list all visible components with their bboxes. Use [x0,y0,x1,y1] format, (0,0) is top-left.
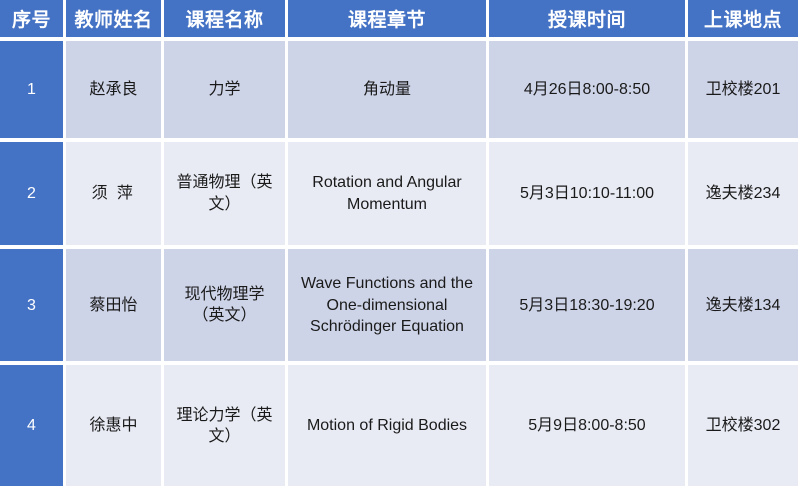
room-cell: 卫校楼302 [688,365,798,486]
chapter-cell: Wave Functions and the One-dimensional S… [288,249,489,366]
teacher-cell: 徐惠中 [66,365,164,486]
time-cell: 5月3日18:30-19:20 [489,249,688,366]
table-header: 序号 教师姓名 课程名称 课程章节 授课时间 上课地点 [0,0,798,41]
room-cell: 逸夫楼134 [688,249,798,366]
table-row: 1 赵承良 力学 角动量 4月26日8:00-8:50 卫校楼201 [0,41,798,142]
row-index-cell: 4 [0,365,66,486]
table-row: 4 徐惠中 理论力学（英文） Motion of Rigid Bodies 5月… [0,365,798,486]
column-header-chapter: 课程章节 [288,0,489,41]
time-cell: 5月9日8:00-8:50 [489,365,688,486]
time-cell: 5月3日10:10-11:00 [489,142,688,248]
teacher-cell: 须 萍 [66,142,164,248]
column-header-course: 课程名称 [164,0,288,41]
course-cell: 理论力学（英文） [164,365,288,486]
chapter-cell: Rotation and Angular Momentum [288,142,489,248]
header-row: 序号 教师姓名 课程名称 课程章节 授课时间 上课地点 [0,0,798,41]
room-cell: 卫校楼201 [688,41,798,142]
row-index-cell: 1 [0,41,66,142]
column-header-teacher: 教师姓名 [66,0,164,41]
course-cell: 普通物理（英文） [164,142,288,248]
chapter-cell: 角动量 [288,41,489,142]
teaching-schedule-table: 序号 教师姓名 课程名称 课程章节 授课时间 上课地点 1 赵承良 力学 角动量… [0,0,798,486]
course-cell: 现代物理学（英文） [164,249,288,366]
row-index-cell: 3 [0,249,66,366]
course-cell: 力学 [164,41,288,142]
teacher-cell: 蔡田怡 [66,249,164,366]
time-cell: 4月26日8:00-8:50 [489,41,688,142]
column-header-index: 序号 [0,0,66,41]
row-index-cell: 2 [0,142,66,248]
room-cell: 逸夫楼234 [688,142,798,248]
chapter-cell: Motion of Rigid Bodies [288,365,489,486]
column-header-time: 授课时间 [489,0,688,41]
teacher-cell: 赵承良 [66,41,164,142]
table-row: 2 须 萍 普通物理（英文） Rotation and Angular Mome… [0,142,798,248]
table-body: 1 赵承良 力学 角动量 4月26日8:00-8:50 卫校楼201 2 须 萍… [0,41,798,486]
column-header-room: 上课地点 [688,0,798,41]
table-row: 3 蔡田怡 现代物理学（英文） Wave Functions and the O… [0,249,798,366]
